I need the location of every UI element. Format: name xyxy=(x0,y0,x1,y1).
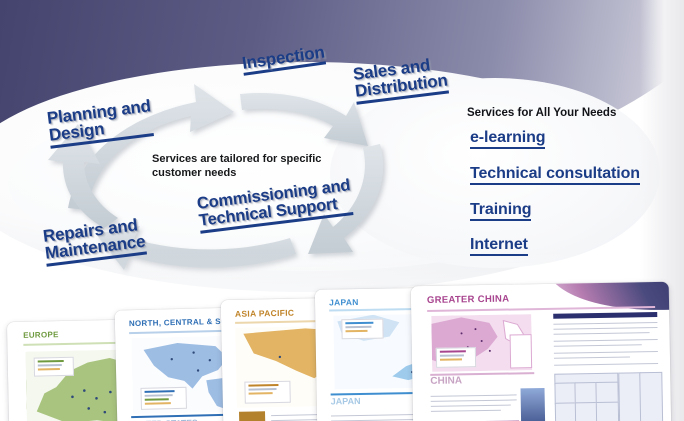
tailored-services-note-line2: customer needs xyxy=(152,166,321,180)
brochure-legend-americas xyxy=(140,387,187,410)
brochure-title-europe: EUROPE xyxy=(23,330,59,340)
table-cell xyxy=(639,372,663,421)
brochure-table-greater-china xyxy=(554,372,661,421)
brochure-datasheet-line-7 xyxy=(554,356,630,358)
table-cell xyxy=(575,402,598,421)
brochure-title-greater-china: GREATER CHINA xyxy=(427,294,510,306)
brochure-datasheet-line-5 xyxy=(554,344,642,347)
brochure-textline-china-4 xyxy=(431,410,501,412)
services-item-technical-consultation[interactable]: Technical consultation xyxy=(470,165,640,185)
brochure-panel-greater-china[interactable]: GREATER CHINA CHINA xyxy=(411,282,672,421)
brochure-textline-china-3 xyxy=(431,405,511,407)
brochure-datasheet-line-1 xyxy=(553,322,657,325)
brochure-datasheet-header-greater-china xyxy=(553,312,657,319)
brochure-photo-greater-china xyxy=(521,388,546,421)
service-overview-graphic: Planning and Design Inspection Sales and… xyxy=(0,0,684,421)
brochure-datasheet-line-3 xyxy=(554,332,650,335)
services-needs-title: Services for All Your Needs xyxy=(467,107,616,119)
brochure-rule-greater-china xyxy=(427,306,655,312)
brochure-subtitle-japan: JAPAN xyxy=(331,396,361,407)
brochure-title-asia-pacific: ASIA PACIFIC xyxy=(235,308,295,319)
brochure-textline-china-1 xyxy=(431,394,517,397)
brochure-datasheet-line-8 xyxy=(554,363,658,366)
tailored-services-note: Services are tailored for specific custo… xyxy=(152,152,321,180)
brochure-corner-swoosh-greater-china xyxy=(546,282,672,326)
brochure-title-japan: JAPAN xyxy=(329,297,359,308)
table-cell xyxy=(595,382,618,404)
brochure-datasheet-line-4 xyxy=(554,339,658,342)
brochure-mapinset-greater-china xyxy=(510,334,533,368)
brochure-datasheet-line-6 xyxy=(554,351,658,354)
brochure-legend-europe xyxy=(34,357,74,377)
brochure-photo-asia-pacific xyxy=(239,411,265,421)
brochure-textline-china-2 xyxy=(431,399,517,402)
tailored-services-note-line1: Services are tailored for specific xyxy=(152,152,321,166)
services-item-internet[interactable]: Internet xyxy=(470,236,528,256)
table-cell xyxy=(596,402,619,421)
brochure-legend-greater-china xyxy=(436,347,476,368)
services-item-training[interactable]: Training xyxy=(470,201,531,221)
brochure-legend-japan xyxy=(341,319,383,340)
brochure-subtitle-greater-china: CHINA xyxy=(430,375,462,387)
table-cell xyxy=(554,382,576,404)
brochure-datasheet-line-2 xyxy=(553,327,657,330)
table-cell xyxy=(574,382,597,404)
brochure-subtitle-americas: UNITED STATES xyxy=(131,418,198,421)
brochure-legend-asia-pacific xyxy=(244,381,290,404)
services-item-e-learning[interactable]: e-learning xyxy=(470,129,545,149)
